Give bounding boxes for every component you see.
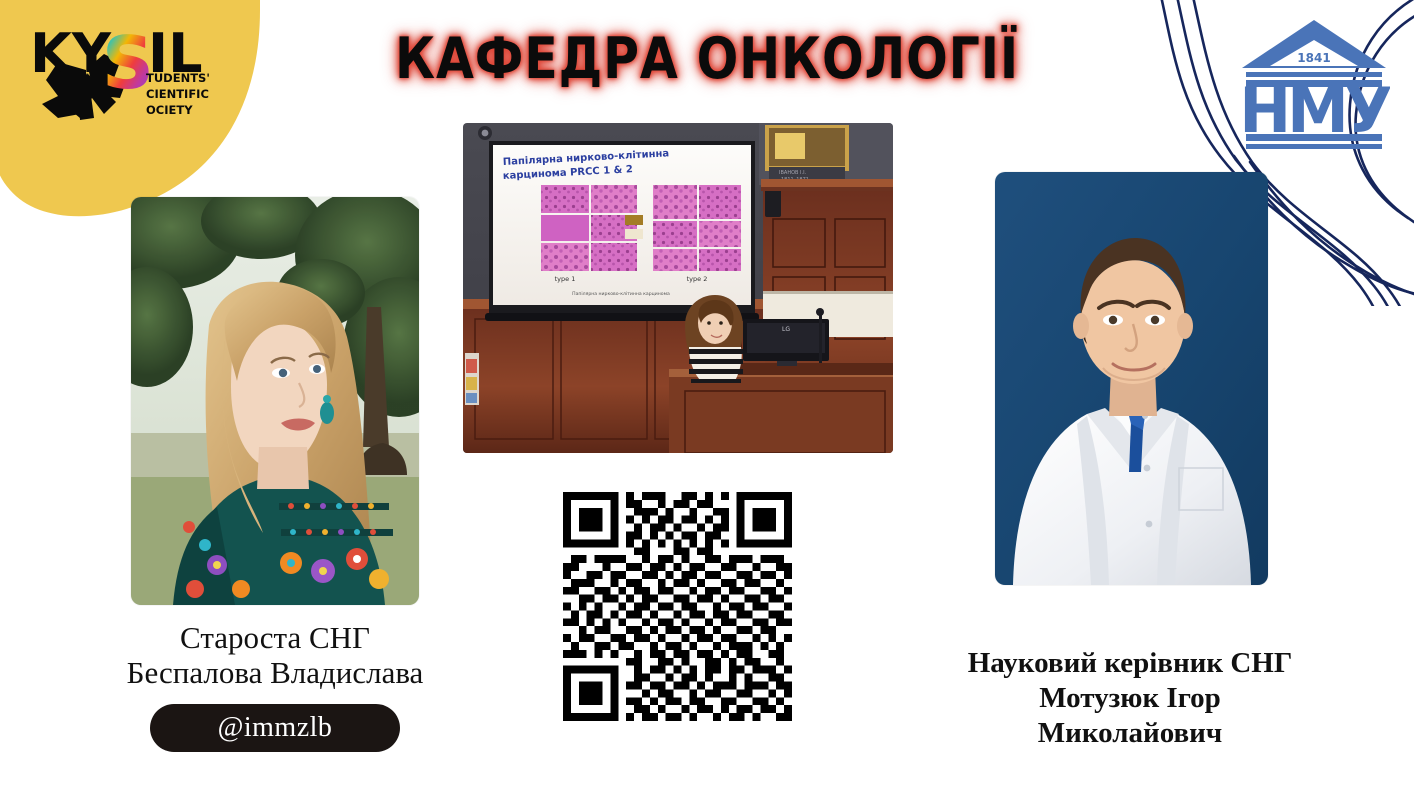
monitor-brand-label: LG bbox=[782, 326, 790, 333]
kysil-tagline-3: OCIETY bbox=[146, 103, 193, 117]
supervisor-role: Науковий керівник СНГ bbox=[900, 646, 1360, 681]
lecture-hall-photo: ІВАНОВ І.І. 1811–1871 bbox=[463, 123, 893, 453]
student-name: Беспалова Владислава bbox=[44, 655, 506, 690]
svg-text:ІВАНОВ І.І.: ІВАНОВ І.І. bbox=[779, 170, 807, 176]
student-caption: Староста СНГ Беспалова Владислава bbox=[44, 620, 506, 690]
supervisor-name-line2: Миколайович bbox=[900, 716, 1360, 751]
slide-caption: Папілярна нирково-клітинна карцинома bbox=[572, 291, 670, 297]
supervisor-portrait bbox=[995, 172, 1268, 585]
slide-label-type2: type 2 bbox=[687, 275, 708, 283]
student-role: Староста СНГ bbox=[44, 620, 506, 655]
instagram-handle-button[interactable]: @immzlb bbox=[150, 704, 400, 752]
qr-code[interactable] bbox=[563, 492, 792, 721]
instagram-handle-label: @immzlb bbox=[218, 712, 333, 744]
poster-canvas: KY S IL TUDENTS' CIENTIFIC OCIETY КАФЕДР… bbox=[0, 0, 1414, 796]
student-portrait bbox=[131, 197, 419, 605]
slide-label-type1: type 1 bbox=[555, 275, 576, 283]
poster-title: КАФЕДРА ОНКОЛОГІЇ bbox=[99, 26, 1315, 92]
supervisor-name-line1: Мотузюк Ігор bbox=[900, 681, 1360, 716]
supervisor-caption: Науковий керівник СНГ Мотузюк Ігор Микол… bbox=[900, 646, 1360, 750]
